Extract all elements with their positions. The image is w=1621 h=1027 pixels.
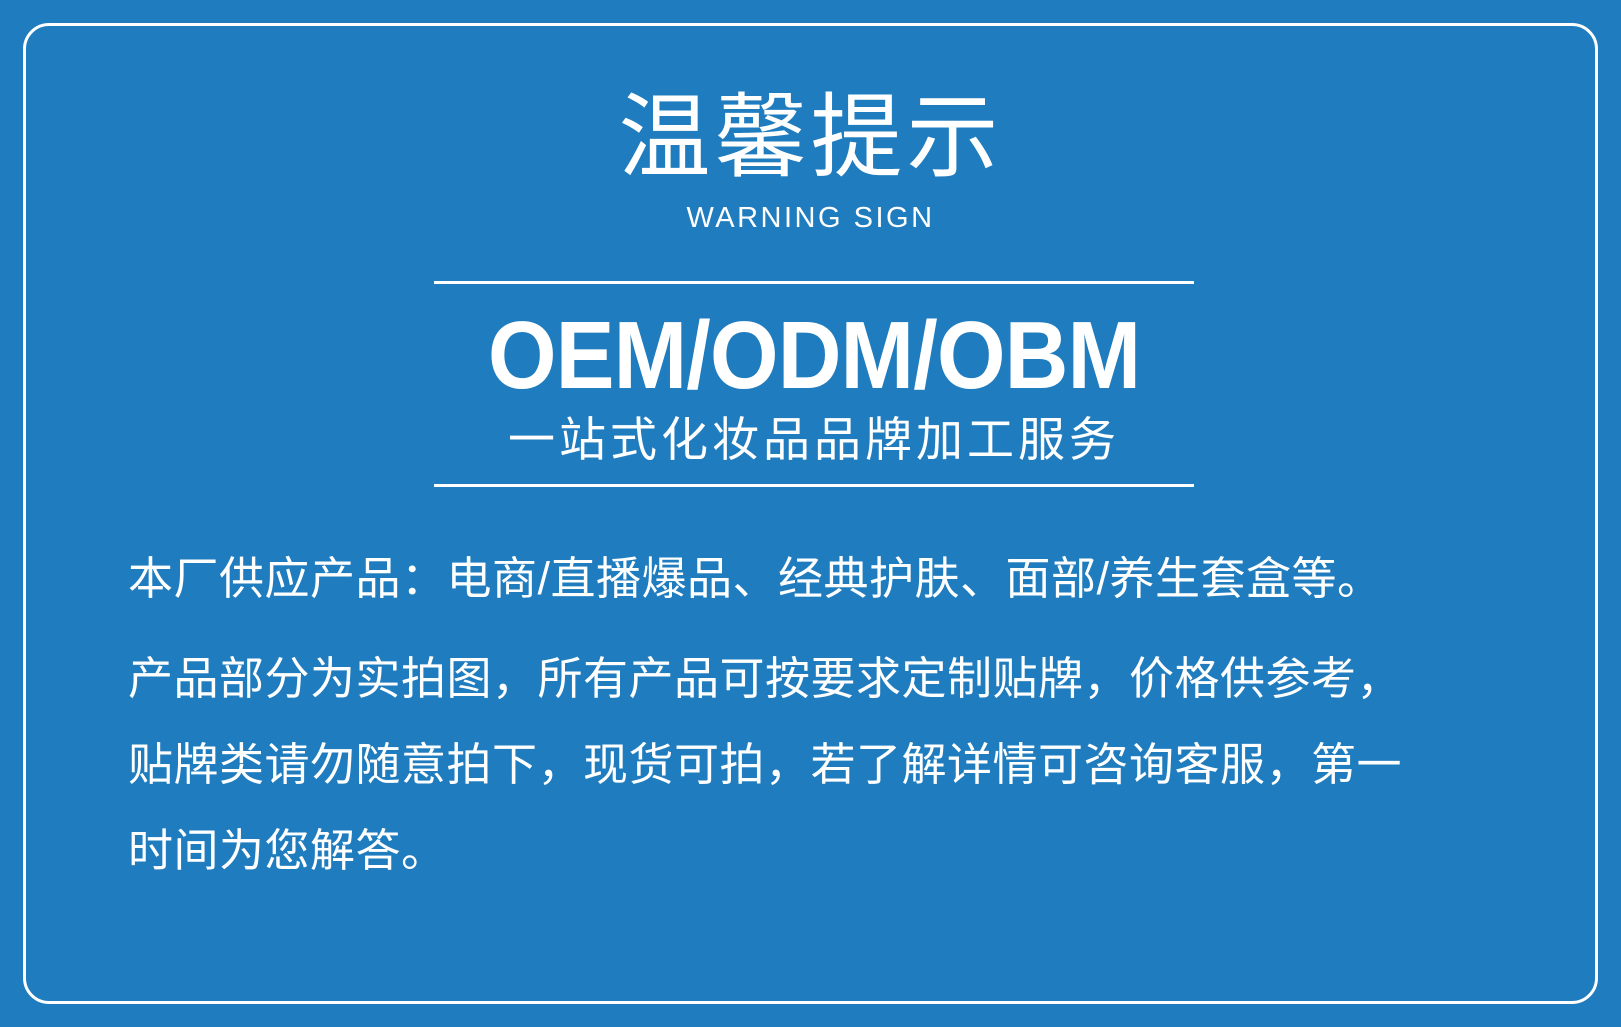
warning-sign-banner: 温馨提示 WARNING SIGN OEM/ODM/OBM 一站式化妆品品牌加工… (0, 0, 1621, 1027)
notice-paragraphs: 本厂供应产品：电商/直播爆品、经典护肤、面部/养生套盒等。 产品部分为实拍图，所… (128, 536, 1488, 894)
divider-top (434, 281, 1194, 284)
notice-line-3: 贴牌类请勿随意拍下，现货可拍，若了解详情可咨询客服，第一 (128, 722, 1488, 808)
service-subheading: 一站式化妆品品牌加工服务 (434, 410, 1194, 470)
divider-bottom (434, 484, 1194, 487)
notice-line-2: 产品部分为实拍图，所有产品可按要求定制贴牌，价格供参考， (128, 636, 1488, 722)
banner-content: 温馨提示 WARNING SIGN OEM/ODM/OBM 一站式化妆品品牌加工… (0, 0, 1621, 1027)
notice-line-1: 本厂供应产品：电商/直播爆品、经典护肤、面部/养生套盒等。 (128, 536, 1488, 622)
service-heading: OEM/ODM/OBM (464, 300, 1163, 412)
page-subtitle: WARNING SIGN (0, 198, 1621, 238)
paragraph-gap (128, 622, 1488, 636)
page-title: 温馨提示 (0, 86, 1621, 190)
header-block: 温馨提示 WARNING SIGN (0, 86, 1621, 238)
service-block: OEM/ODM/OBM 一站式化妆品品牌加工服务 (434, 281, 1194, 487)
notice-line-4: 时间为您解答。 (128, 808, 1488, 894)
